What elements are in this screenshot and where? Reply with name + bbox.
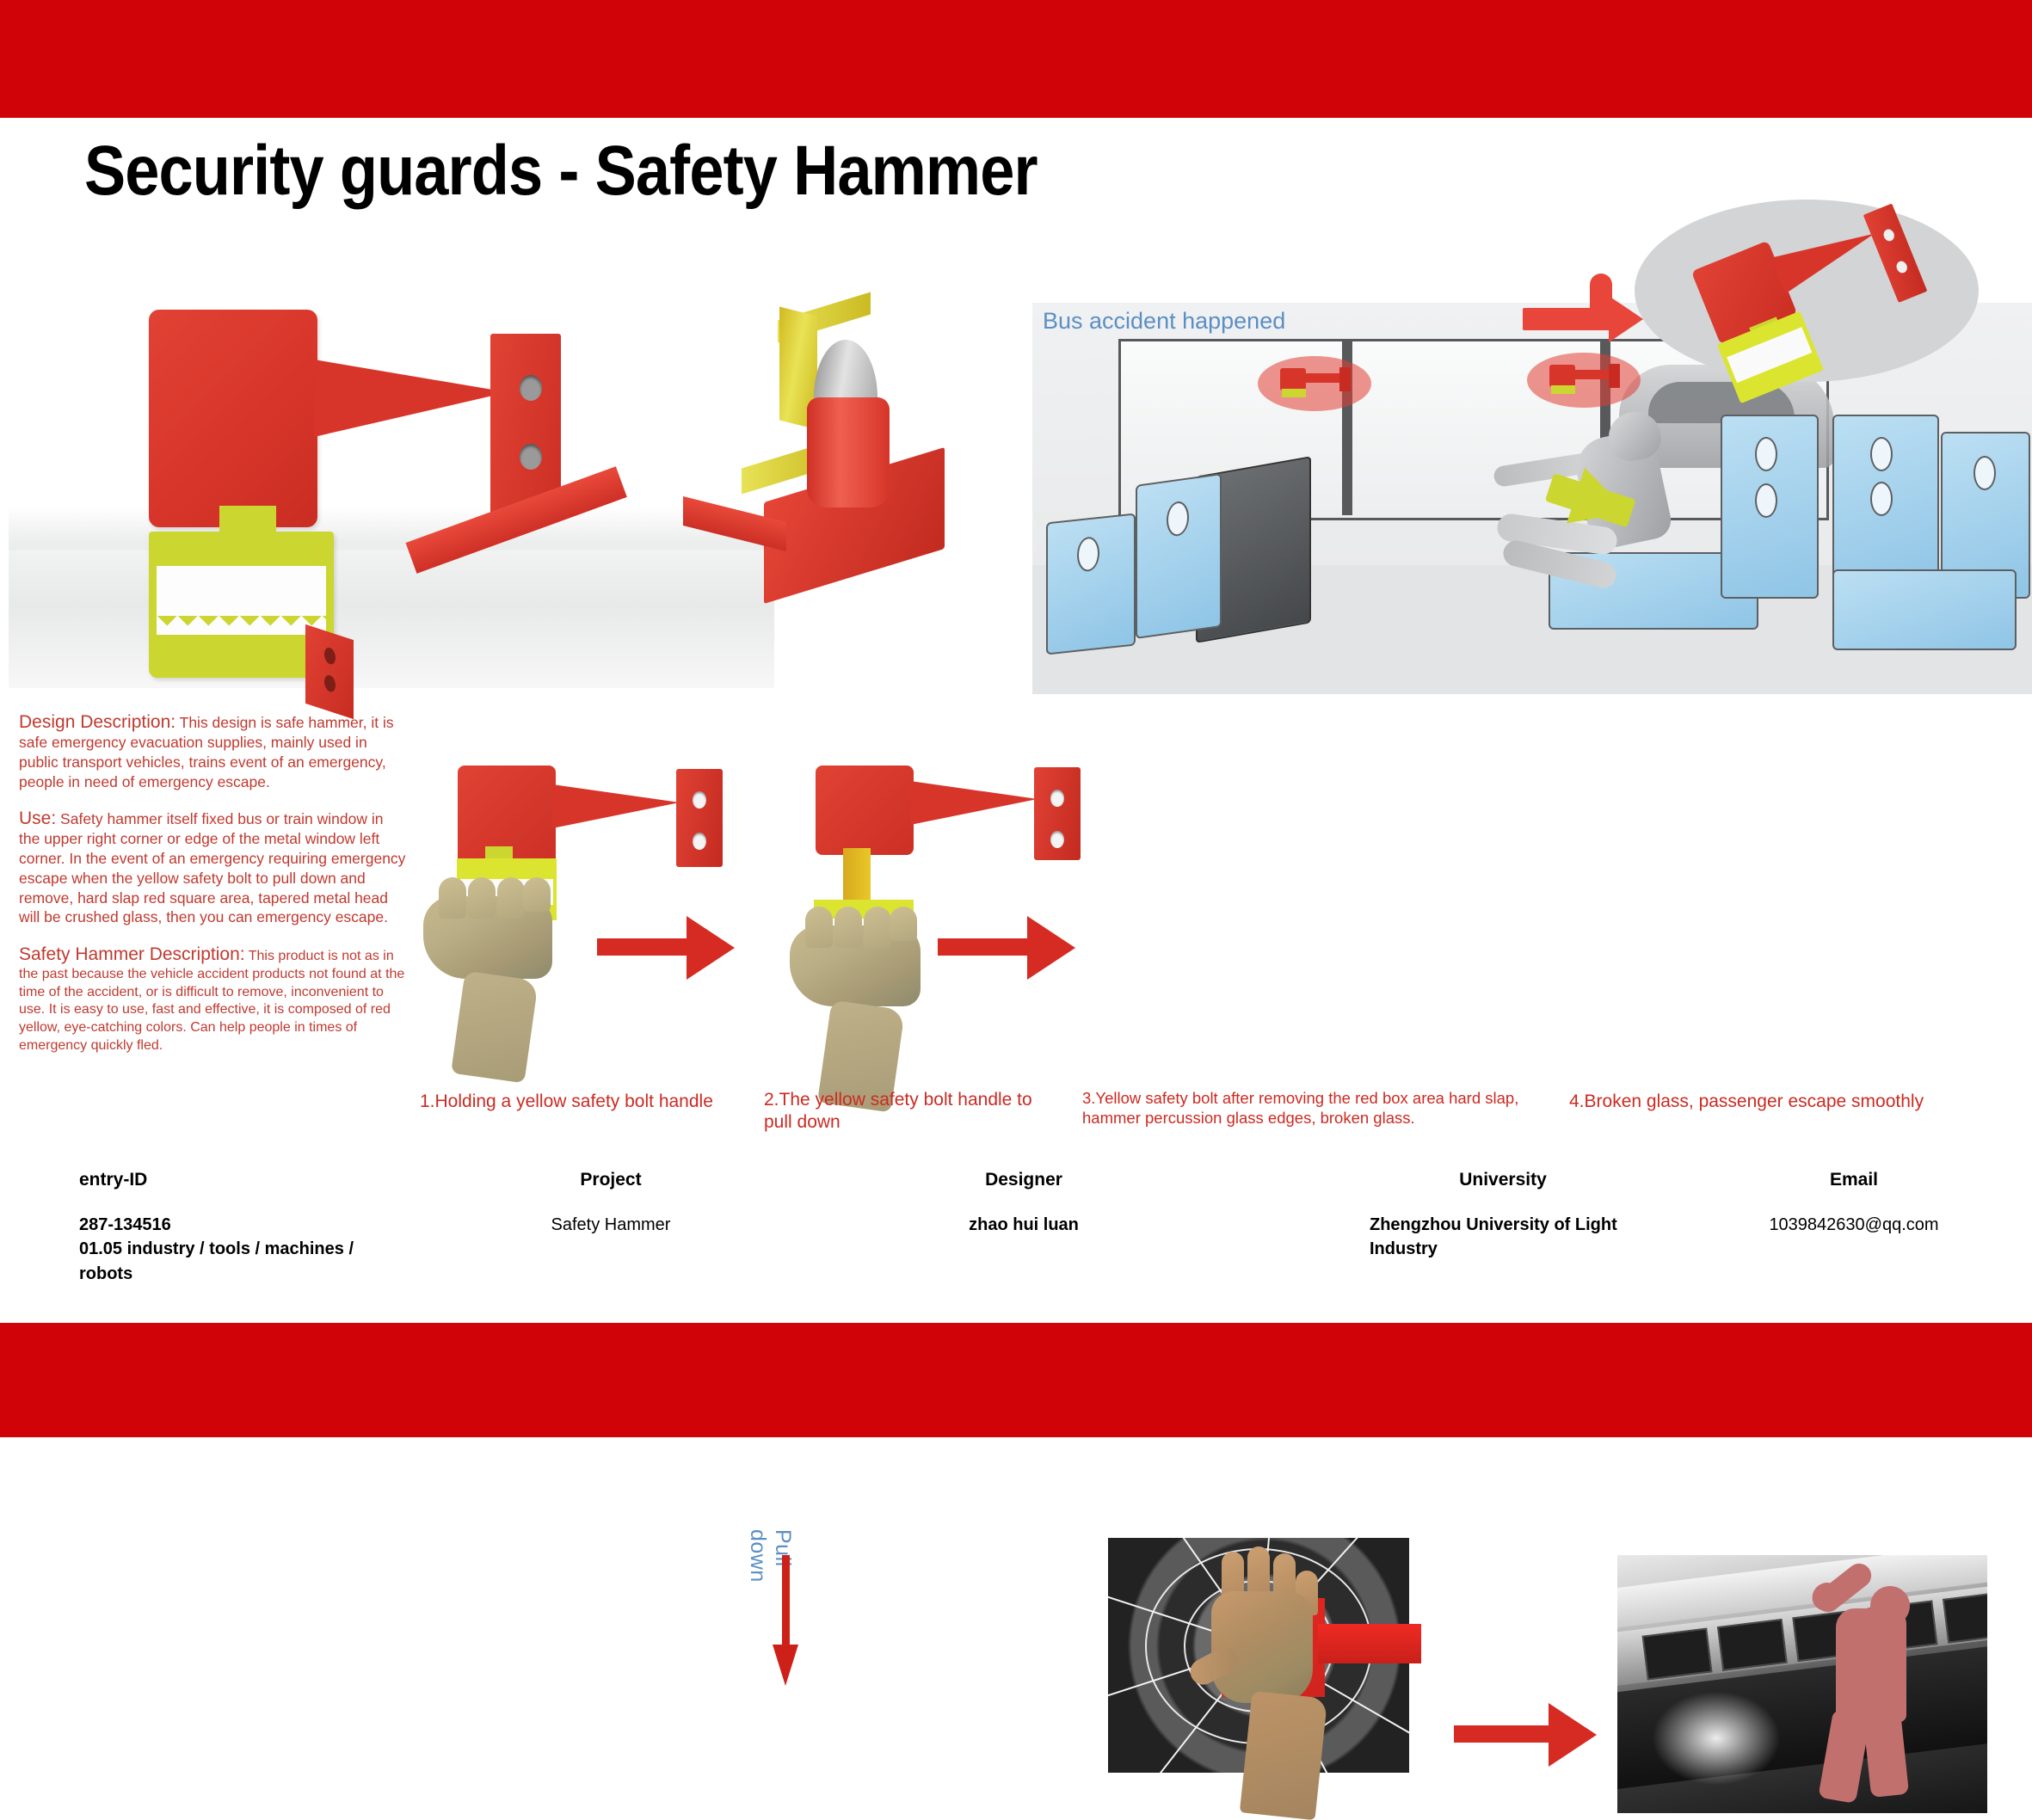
seat-grip-hole: [1870, 482, 1893, 516]
seat-grip-hole: [1974, 456, 1996, 490]
escape-leg-right: [1863, 1708, 1909, 1798]
bus-seat-blue-4: [1832, 415, 1939, 590]
mini-hammer-shaft: [1304, 373, 1342, 383]
pull-down-arrow-icon: [773, 1555, 798, 1684]
bus-seat-blue-6: [1832, 569, 2017, 650]
callout-mount-hole-upper: [1882, 228, 1896, 243]
step1-mounting-plate: [676, 769, 723, 867]
step1-wrist: [451, 971, 539, 1084]
credit-entry-id-value: 287-134516: [79, 1213, 363, 1237]
mini-hammer-plate: [1339, 367, 1351, 391]
step3-hand-slapping: [1204, 1557, 1321, 1815]
finger: [523, 877, 551, 912]
arrow-stem: [938, 938, 1034, 956]
credit-entry-id: entry-ID 287-134516 01.05 industry / too…: [79, 1170, 363, 1286]
credit-designer-label: Designer: [895, 1170, 1153, 1190]
credit-university-value: Zhengzhou University of Light Industry: [1370, 1213, 1636, 1262]
seat-grip-hole: [1167, 500, 1189, 538]
step1-mount-hole-upper: [693, 791, 706, 809]
bolt-zigzag-edge: [157, 616, 326, 635]
escape-torso: [1836, 1608, 1906, 1722]
design-description-lead: Design Description:: [19, 712, 175, 732]
step3-hammer-shaft: [1318, 1624, 1421, 1663]
step2-to-step3-arrow: [938, 916, 1075, 980]
mini-hammer-shaft: [1573, 370, 1611, 379]
finger: [805, 907, 833, 948]
seat-grip-hole: [1870, 437, 1893, 471]
credit-email: Email 1039842630@qq.com: [1712, 1170, 1996, 1237]
finger: [468, 877, 496, 919]
credit-designer-value: zhao hui luan: [895, 1213, 1153, 1237]
hammer-red-pad: [149, 310, 317, 527]
secondary-mount-hole-lower: [324, 673, 336, 693]
mini-hammer-plate: [1609, 364, 1620, 388]
credit-entry-id-label: entry-ID: [79, 1170, 363, 1190]
step-1-caption: 1.Holding a yellow safety bolt handle: [420, 1091, 721, 1113]
step2-mount-hole-lower: [1050, 831, 1064, 848]
callout-pointer-arrow: [1523, 284, 1643, 341]
credit-designer: Designer zhao hui luan: [895, 1170, 1153, 1237]
page-title: Security guards - Safety Hammer: [84, 131, 1038, 212]
bus-window-pane: [1642, 1628, 1713, 1681]
escaping-passenger-silhouette: [1807, 1572, 1936, 1805]
exploded-assembly-render: [714, 292, 998, 662]
callout-hammer-shaft: [1771, 218, 1883, 293]
bus-seat-blue-2: [1046, 513, 1136, 655]
arrow-head: [1549, 1703, 1597, 1767]
finger: [864, 907, 891, 948]
step1-to-step2-arrow: [597, 916, 735, 980]
step2-mount-hole-upper: [1050, 790, 1064, 807]
hammer-shaft: [314, 360, 508, 437]
credit-university: University Zhengzhou University of Light…: [1370, 1170, 1636, 1262]
credit-project-label: Project: [482, 1170, 740, 1190]
step3-forearm: [1240, 1691, 1327, 1820]
bus-seat-blue-3: [1721, 415, 1819, 599]
arrow-stem: [782, 1555, 790, 1650]
secondary-mount-hole-upper: [324, 646, 336, 666]
callout-arrow-head: [1609, 296, 1643, 342]
top-red-banner: [0, 0, 2032, 118]
step2-hand-pulling: [790, 925, 921, 1006]
finger: [890, 907, 917, 941]
step2-mounting-plate: [1034, 767, 1081, 860]
step2-hammer-pad: [816, 766, 914, 855]
hammer-location-highlight-2: [1527, 353, 1641, 408]
bus-window-pane: [1943, 1591, 1987, 1644]
escape-head: [1870, 1586, 1910, 1626]
red-cylinder-housing: [807, 397, 890, 507]
scene-label: Bus accident happened: [1043, 308, 1285, 335]
bus-seat-blue-1: [1136, 473, 1222, 639]
credit-project: Project Safety Hammer: [482, 1170, 740, 1237]
hammer-location-highlight-1: [1258, 356, 1371, 411]
step-3-caption: 3.Yellow safety bolt after removing the …: [1082, 1089, 1538, 1128]
bus-window-pane: [1717, 1619, 1788, 1671]
mini-hammer-pad: [1280, 368, 1306, 390]
finger: [834, 907, 862, 948]
finger: [439, 877, 466, 919]
render-ground-shadow: [9, 550, 774, 688]
finger: [497, 877, 525, 919]
step1-hammer-shaft: [552, 784, 680, 828]
mini-hammer-bolt: [1282, 389, 1306, 397]
step2-extended-bolt-stem: [843, 848, 871, 900]
callout-mount-hole-lower: [1895, 260, 1909, 274]
credit-project-value: Safety Hammer: [482, 1213, 740, 1237]
credit-email-label: Email: [1712, 1170, 1996, 1190]
step-2-caption: 2.The yellow safety bolt handle to pull …: [764, 1089, 1039, 1133]
credit-entry-category: 01.05 industry / tools / machines / robo…: [79, 1237, 363, 1286]
arrow-head: [1027, 916, 1075, 980]
seat-grip-hole: [1755, 483, 1777, 518]
arrow-stem: [1454, 1725, 1555, 1743]
mini-hammer-bolt: [1551, 385, 1575, 394]
callout-bolt-window: [1727, 327, 1812, 383]
mini-hammer-pad: [1549, 365, 1575, 387]
step-4-caption: 4.Broken glass, passenger escape smoothl…: [1569, 1091, 1999, 1113]
arrow-head: [773, 1645, 798, 1686]
escape-fist: [1807, 1577, 1846, 1616]
smoke-plume: [1652, 1691, 1781, 1786]
mount-hole-lower: [520, 444, 542, 470]
secondary-mounting-plate: [305, 624, 354, 719]
step1-hand-gripping: [423, 896, 552, 979]
mount-hole-upper: [520, 375, 542, 401]
seat-grip-hole: [1755, 437, 1777, 471]
step2-hammer-shaft: [910, 781, 1038, 825]
credit-email-value: 1039842630@qq.com: [1712, 1213, 1996, 1237]
arrow-head: [687, 916, 735, 980]
bottom-red-banner: [0, 1323, 2032, 1437]
product-render-main: [9, 284, 774, 688]
arrow-stem: [597, 938, 693, 956]
seat-grip-hole: [1077, 536, 1099, 573]
credit-university-label: University: [1370, 1170, 1636, 1190]
step1-mount-hole-lower: [693, 833, 706, 850]
usage-steps-strip: Pull down: [0, 757, 2032, 1118]
step3-to-step4-arrow: [1454, 1703, 1600, 1767]
